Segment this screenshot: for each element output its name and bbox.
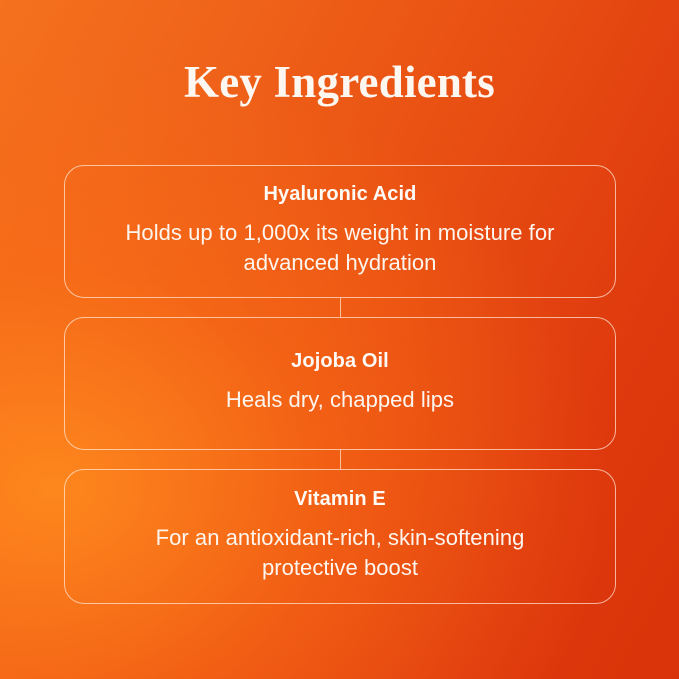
ingredient-card-stack: Hyaluronic Acid Holds up to 1,000x its w… (64, 165, 616, 604)
key-ingredients-infographic: Key Ingredients Hyaluronic Acid Holds up… (0, 0, 679, 679)
ingredient-name: Jojoba Oil (291, 349, 389, 374)
ingredient-name: Hyaluronic Acid (263, 182, 416, 207)
ingredient-card-hyaluronic-acid: Hyaluronic Acid Holds up to 1,000x its w… (64, 165, 616, 298)
ingredient-name: Vitamin E (294, 487, 386, 512)
title-container: Key Ingredients (0, 58, 679, 107)
card-connector-line-1 (340, 298, 341, 317)
ingredient-card-jojoba-oil: Jojoba Oil Heals dry, chapped lips (64, 317, 616, 450)
page-title: Key Ingredients (0, 58, 679, 107)
ingredient-description: For an antioxidant-rich, skin-softening … (125, 523, 555, 582)
ingredient-description: Heals dry, chapped lips (226, 385, 454, 414)
ingredient-description: Holds up to 1,000x its weight in moistur… (125, 218, 555, 277)
ingredient-card-vitamin-e: Vitamin E For an antioxidant-rich, skin-… (64, 469, 616, 604)
card-connector-line-2 (340, 450, 341, 469)
